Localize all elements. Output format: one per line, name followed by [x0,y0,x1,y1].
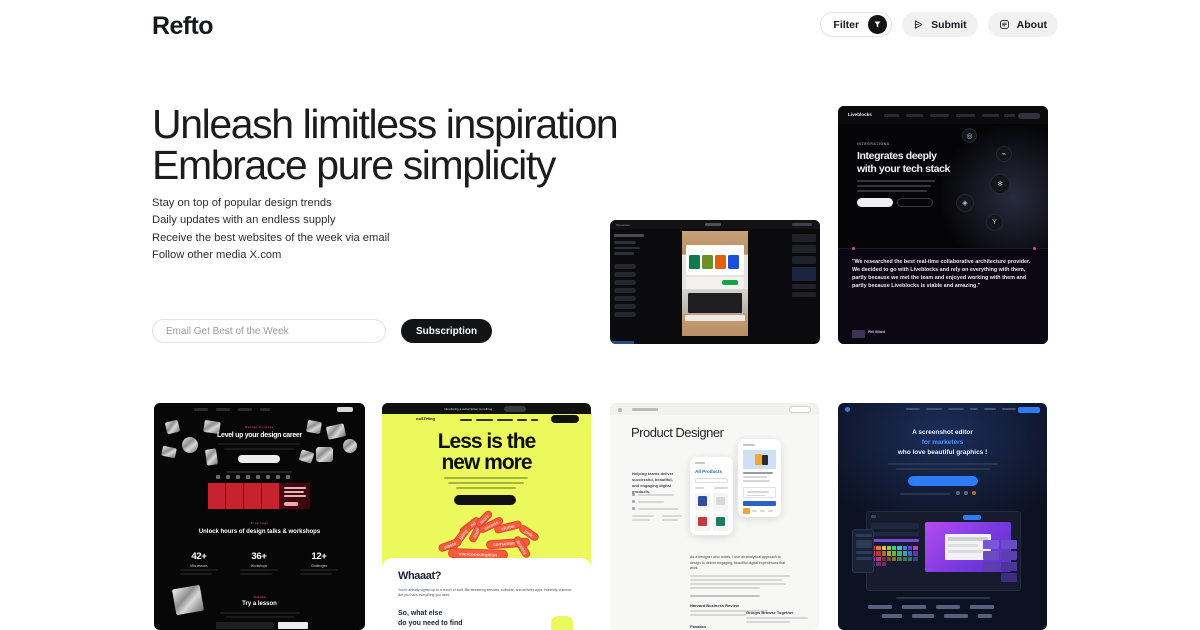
preview-title-2: with your tech stack [857,163,950,176]
testimonial-quote: "We researched the best real-time collab… [852,258,1036,290]
list-icon [999,19,1010,30]
hero-title-line-1: Unleash limitless inspiration [152,104,617,145]
card4-title-3: who love beautiful graphics ! [838,449,1047,456]
liveblocks-preview: Liveblocks INTEGRATIONS Integrates deepl… [838,106,1048,344]
tech-icon: ◈ [956,194,974,212]
preview-eyebrow: INTEGRATIONS [857,142,890,146]
card2-announcement-bar: Introducing a subscription to nothing [382,403,591,414]
card1-footer-input[interactable] [216,622,274,629]
card4-nav-cta[interactable] [1018,407,1040,413]
hero-bullet: Stay on top of popular design trends [152,195,390,212]
hero-bullet: Follow other media X.com [152,247,390,264]
card1-stat-value: 36+ [234,551,284,562]
card1-cta[interactable] [238,455,280,463]
card3-tagline: Helping teams deliver successful, beauti… [632,471,680,495]
card1-footer-title: Try a lesson [154,601,365,607]
card1-stat-value: 12+ [294,551,344,562]
phone-1-search[interactable] [695,478,728,483]
card2-banner-cta[interactable] [504,406,526,412]
card1-footer-eyebrow: Free trial [154,595,365,599]
gallery-app-preview: Showcase [610,220,820,344]
card1-stat: 12+ Challenges [294,551,344,568]
card1-stat: 36+ Workshops [234,551,284,568]
tech-icon: ◎ [962,128,977,143]
product-designer-preview: Product Designer Helping teams deliver s… [610,403,819,630]
card2-panel-sub-2: do you need to find [398,620,463,627]
design-career-preview: Design Courses Level up your design care… [154,403,365,630]
hero-bullet: Receive the best websites of the week vi… [152,230,390,247]
funnel-icon [868,15,887,34]
card2-panel-sub-1: So, what else [398,610,442,617]
preview-cta-secondary[interactable] [897,198,933,207]
card4-cta[interactable] [908,476,978,486]
showcase-card-design-career[interactable]: Design Courses Level up your design care… [154,403,365,630]
nav-about-label: About [1017,19,1047,31]
card1-stat-value: 42+ [174,551,224,562]
showcase-card-less-is-more[interactable]: Introducing a subscription to nothing no… [382,403,591,630]
card3-section: Fanatics [690,624,706,629]
card2-title-line-1: Less is the [382,431,591,452]
preview-window-label: Showcase [616,223,630,227]
card2-nav-cta[interactable] [551,415,579,423]
email-input[interactable] [152,319,386,343]
card1-eyebrow: Design Courses [154,425,365,429]
card1-stat-label: Workshops [234,564,284,568]
editor-mockup [866,511,1021,591]
screenshot-editor-preview: A screenshot editor for marketers who lo… [838,403,1047,630]
subscribe-button[interactable]: Subscription [401,319,492,343]
hero-title-line-2: Embrace pure simplicity [152,145,617,186]
card1-stat-label: Challenges [294,564,344,568]
card2-panel-title: Whaaat? [398,570,441,582]
card1-footer-button[interactable] [278,622,308,629]
send-icon [913,19,924,30]
card3-body: As a designer who codes, I use an analyt… [690,555,789,572]
site-logo[interactable]: Refto [152,12,213,41]
card1-section-eyebrow: Free trial [154,521,365,525]
card2-brand: noSTHing [416,416,435,421]
testimonial-author: Phil Gillard [868,330,885,334]
card2-cta[interactable] [454,495,516,505]
card1-stat-label: Mini lessons [174,564,224,568]
showcase-card-liveblocks[interactable]: Liveblocks INTEGRATIONS Integrates deepl… [838,106,1048,344]
tech-icon: ✻ [990,174,1010,194]
card1-stat: 42+ Mini lessons [174,551,224,568]
less-is-more-preview: Introducing a subscription to nothing no… [382,403,591,630]
card4-title-1: A screenshot editor [838,429,1047,436]
card1-subtitle: Unlock hours of design talks & workshops [154,528,365,536]
subscribe-form: Subscription [152,319,492,343]
preview-cta-primary[interactable] [857,198,893,207]
card2-panel-body: You're already signed up to a bunch of s… [398,588,575,599]
phone-mockup-2 [738,439,781,517]
nav-filter-label: Filter [833,19,859,31]
card2-banner-text: Introducing a subscription to nothing [444,407,492,411]
site-header: Refto Filter Submit [0,0,1200,50]
tech-icon: ⌁ [996,146,1012,162]
hero-bullet-list: Stay on top of popular design trends Dai… [152,195,390,264]
card4-title-accent: for marketers [838,439,1047,446]
card1-promo-band [208,483,310,509]
showcase-card-gallery-app[interactable]: Showcase [610,220,820,344]
phone-mockup-1: All Products [690,457,733,535]
card3-section: Harvard Business Review [690,603,739,608]
hero-bullet: Daily updates with an endless supply [152,212,390,229]
testimonial-block: "We researched the best real-time collab… [838,248,1048,344]
card1-title: Level up your design career [154,432,365,439]
nav-submit-label: Submit [931,19,967,31]
preview-title-1: Integrates deeply [857,150,937,163]
main-nav: Filter Submit A [820,12,1058,37]
nav-item-about[interactable]: About [988,12,1058,37]
card2-title: Less is the new more [382,431,591,473]
nav-item-filter[interactable]: Filter [820,12,892,37]
preview-brand: Liveblocks [848,112,872,117]
tech-icon: Y [986,214,1003,231]
card3-section: Groups Browse Together [746,610,794,615]
laptop-photo [682,231,748,336]
card2-white-panel: Whaaat? You're already signed up to a bu… [382,558,591,630]
nav-item-submit[interactable]: Submit [902,12,978,37]
phone-1-title: All Products [695,469,722,474]
editor-phone-panel [852,529,874,573]
card3-title: Product Designer [631,425,723,440]
showcase-card-screenshot-editor[interactable]: A screenshot editor for marketers who lo… [838,403,1047,630]
card3-nav-cta[interactable] [789,406,811,413]
page-title: Unleash limitless inspiration Embrace pu… [152,104,617,186]
card2-title-line-2: new more [382,452,591,473]
showcase-card-product-designer[interactable]: Product Designer Helping teams deliver s… [610,403,819,630]
